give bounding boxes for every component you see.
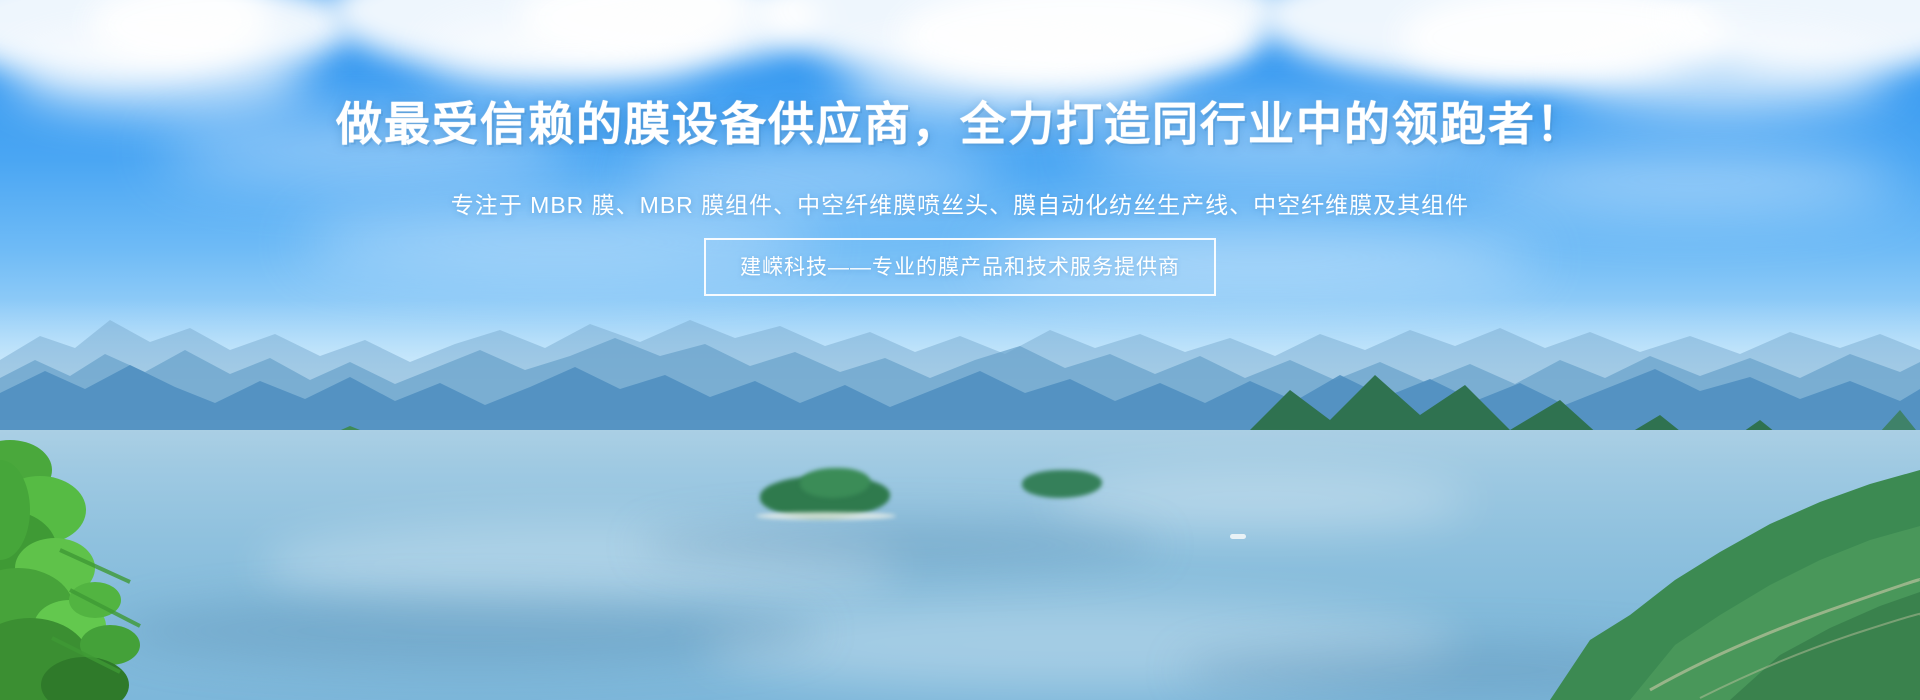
banner-subheadline: 专注于 MBR 膜、MBR 膜组件、中空纤维膜喷丝头、膜自动化纺丝生产线、中空纤… bbox=[0, 186, 1920, 220]
foreground-slope-right bbox=[1400, 440, 1920, 700]
water-shadow bbox=[640, 520, 1160, 570]
tagline-box: 建嵘科技——专业的膜产品和技术服务提供商 bbox=[704, 238, 1216, 296]
cloud-shape bbox=[430, 25, 710, 85]
tagline-box-wrapper: 建嵘科技——专业的膜产品和技术服务提供商 bbox=[0, 238, 1920, 296]
boat bbox=[1230, 534, 1246, 539]
banner-headline: 做最受信赖的膜设备供应商，全力打造同行业中的领跑者！ bbox=[0, 98, 1920, 151]
foreground-foliage-left bbox=[0, 400, 300, 700]
hero-banner: 做最受信赖的膜设备供应商，全力打造同行业中的领跑者！ 专注于 MBR 膜、MBR… bbox=[0, 0, 1920, 700]
islet-shore bbox=[756, 512, 896, 520]
